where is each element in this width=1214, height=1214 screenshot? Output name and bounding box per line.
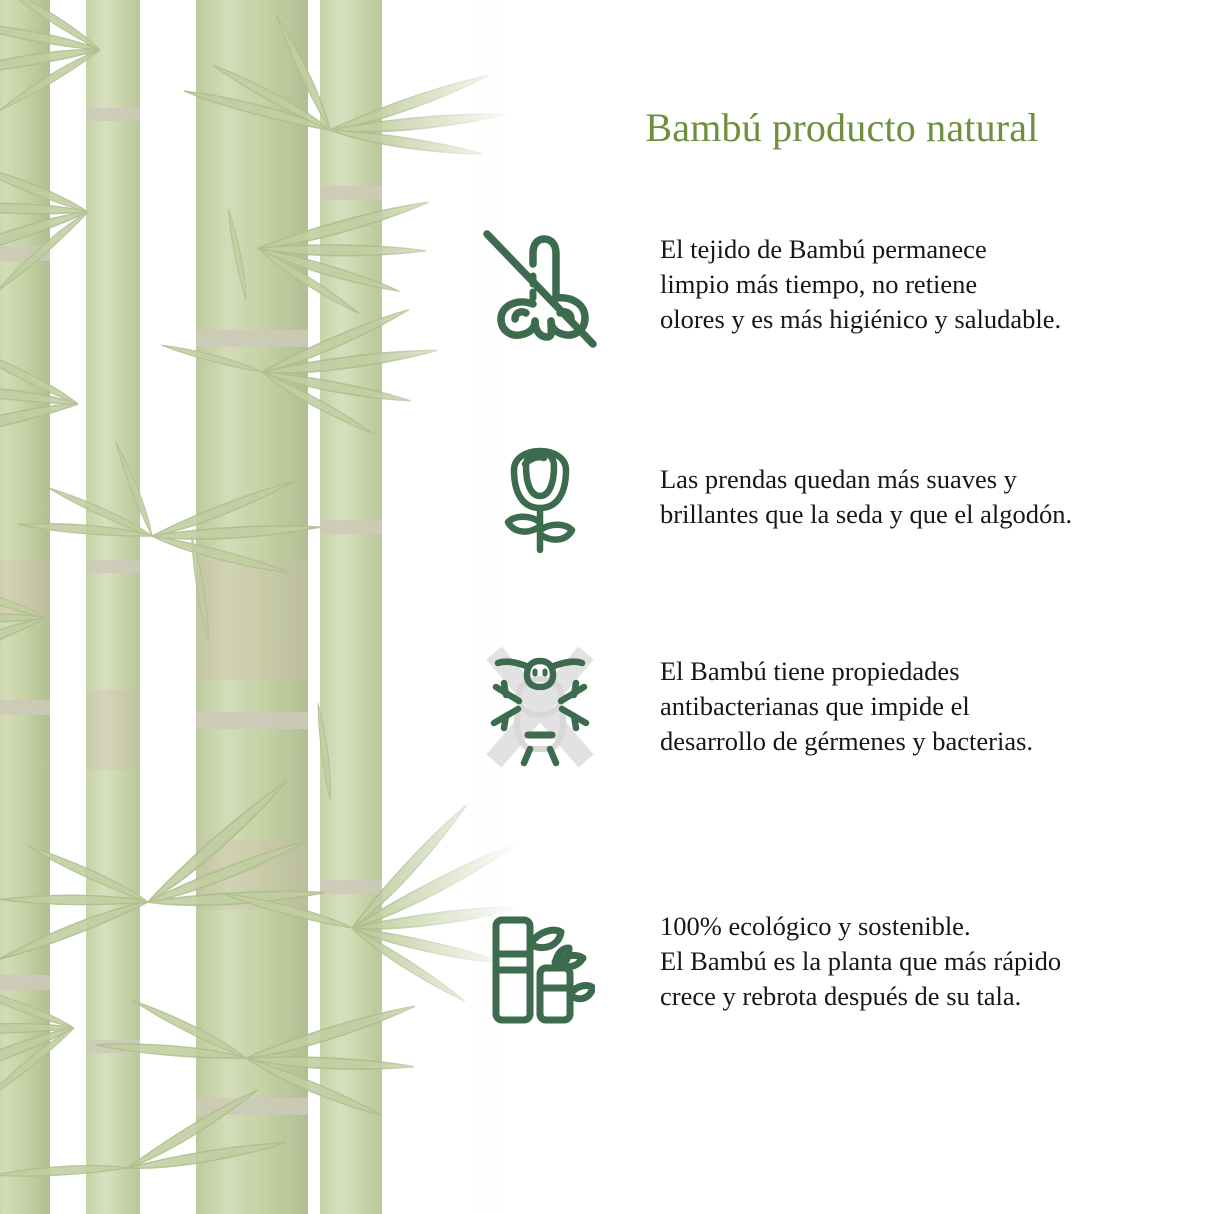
feature-list: El tejido de Bambú permanece limpio más … xyxy=(470,0,1214,1214)
feature-text-line: desarrollo de gérmenes y bacterias. xyxy=(660,724,1214,759)
feature-text-line: El Bambú tiene propiedades xyxy=(660,654,1214,689)
feature-text-line: antibacterianas que impide el xyxy=(660,689,1214,724)
feature-text-softness: Las prendas quedan más suaves y brillant… xyxy=(610,442,1214,532)
feature-text-line: limpio más tiempo, no retiene xyxy=(660,267,1214,302)
feature-text-line: brillantes que la seda y que el algodón. xyxy=(660,497,1214,532)
feature-text-line: Las prendas quedan más suaves y xyxy=(660,462,1214,497)
bamboo-plant-icon xyxy=(470,905,610,1031)
feature-text-no-odor: El tejido de Bambú permanece limpio más … xyxy=(610,222,1214,338)
feature-item-antibacterial: El Bambú tiene propiedades antibacterian… xyxy=(470,642,1214,772)
feature-text-antibacterial: El Bambú tiene propiedades antibacterian… xyxy=(610,642,1214,760)
feature-text-line: 100% ecológico y sostenible. xyxy=(660,909,1214,944)
feature-text-line: El Bambú es la planta que más rápido xyxy=(660,944,1214,979)
feature-item-softness: Las prendas quedan más suaves y brillant… xyxy=(470,442,1214,558)
no-odor-nose-icon xyxy=(470,222,610,352)
feature-item-ecological: 100% ecológico y sostenible. El Bambú es… xyxy=(470,905,1214,1031)
feature-item-no-odor: El tejido de Bambú permanece limpio más … xyxy=(470,222,1214,352)
rose-flower-icon xyxy=(470,442,610,558)
poster-canvas: Bambú producto natural xyxy=(0,0,1214,1214)
bamboo-background-illustration xyxy=(0,0,520,1214)
feature-text-line: olores y es más higiénico y saludable. xyxy=(660,302,1214,337)
antibacterial-bug-icon xyxy=(470,642,610,772)
feature-text-line: crece y rebrota después de su tala. xyxy=(660,979,1214,1014)
feature-text-line: El tejido de Bambú permanece xyxy=(660,232,1214,267)
content-column: Bambú producto natural xyxy=(470,0,1214,1214)
feature-text-ecological: 100% ecológico y sostenible. El Bambú es… xyxy=(610,905,1214,1015)
